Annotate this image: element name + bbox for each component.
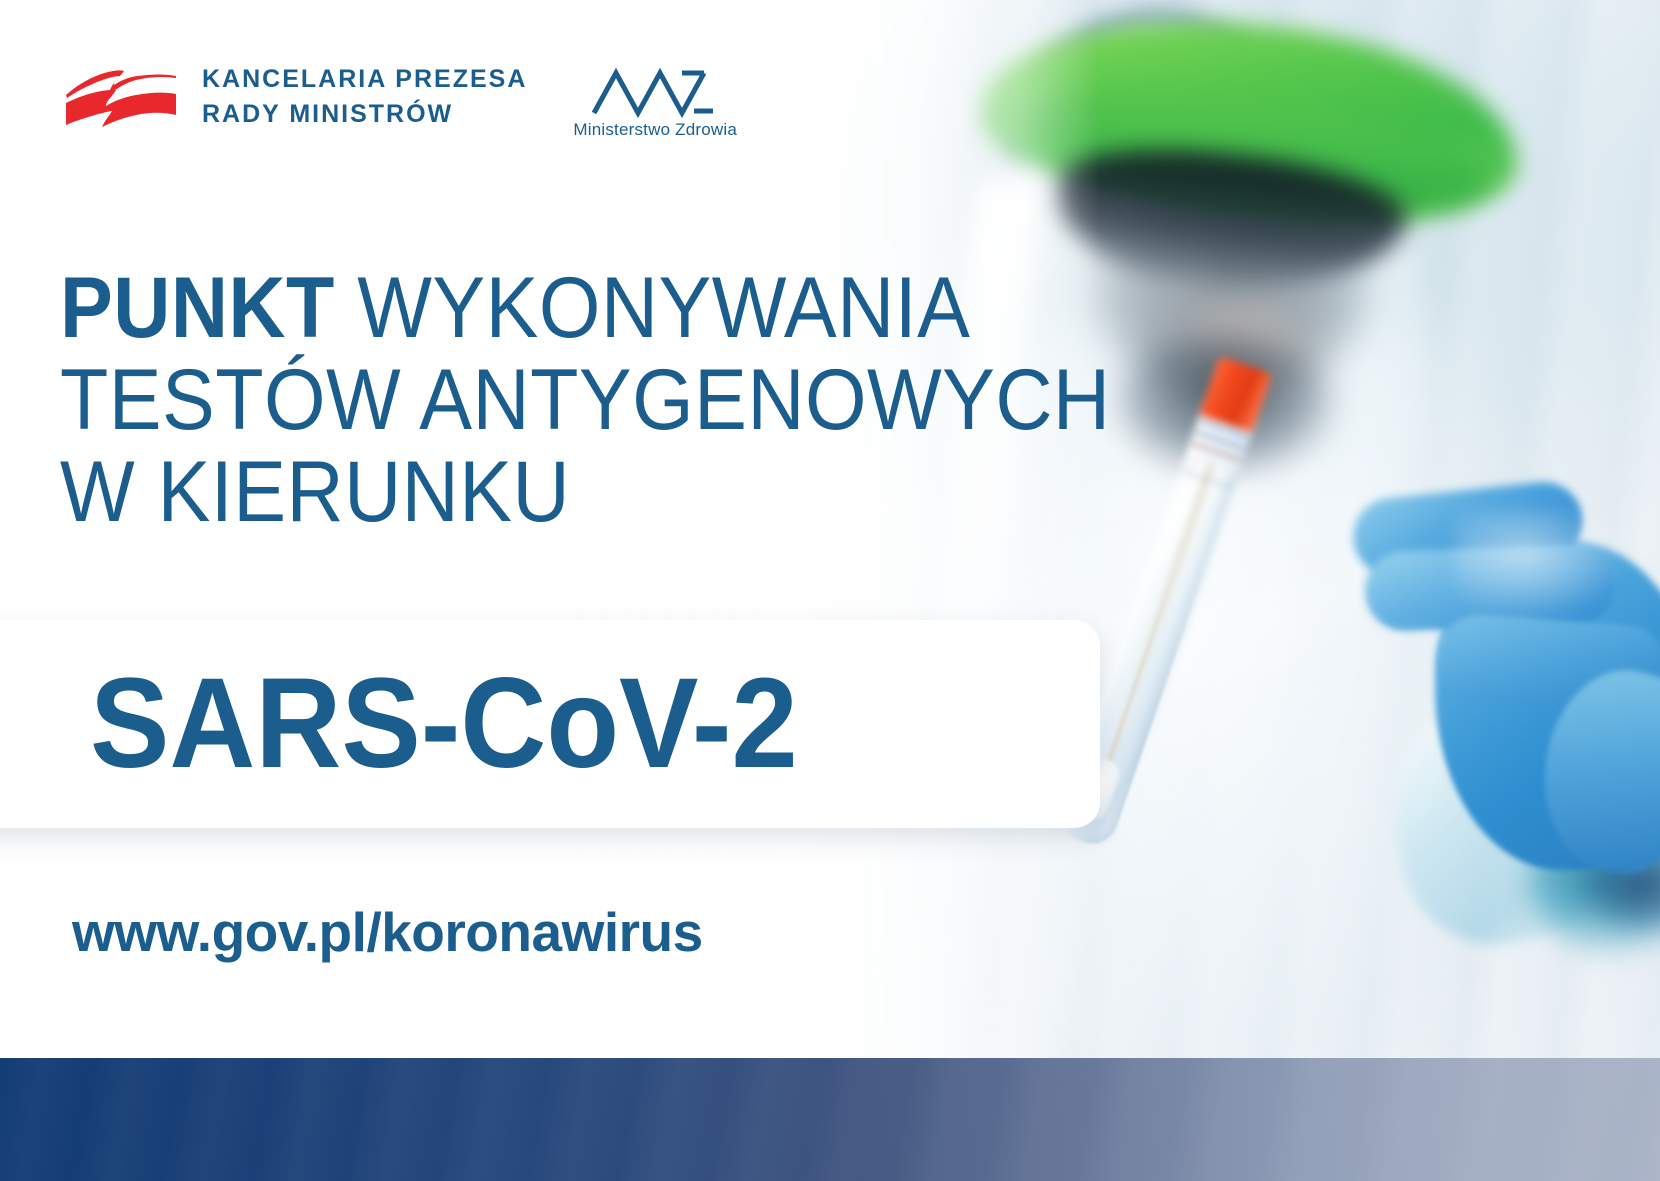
- gloved-hand: [1395, 470, 1660, 890]
- polish-flag-icon: [62, 65, 180, 129]
- virus-name-label: SARS-CoV-2: [90, 660, 798, 788]
- kprm-logo: KANCELARIA PREZESA RADY MINISTRÓW: [62, 62, 527, 131]
- virus-name-card: SARS-CoV-2: [0, 620, 1100, 828]
- headline-line-1-rest: WYKONYWANIA: [335, 260, 971, 356]
- page-title: PUNKT WYKONYWANIA TESTÓW ANTYGENOWYCH W …: [60, 262, 1109, 538]
- ministry-logo-label: Ministerstwo Zdrowia: [573, 120, 737, 140]
- poster-root: KANCELARIA PREZESA RADY MINISTRÓW Minist…: [0, 0, 1660, 1181]
- headline-emphasis: PUNKT: [60, 260, 335, 356]
- ministry-logo: Ministerstwo Zdrowia: [573, 62, 737, 140]
- headline-line-3: W KIERUNKU: [60, 446, 1109, 538]
- headline-line-1: PUNKT WYKONYWANIA: [60, 262, 1109, 354]
- glove-highlight: [1455, 510, 1625, 620]
- mz-monogram-icon: [591, 66, 719, 118]
- footer-bar: [0, 1058, 1660, 1181]
- logo-row: KANCELARIA PREZESA RADY MINISTRÓW Minist…: [62, 62, 737, 140]
- headline-line-2: TESTÓW ANTYGENOWYCH: [60, 354, 1109, 446]
- website-url[interactable]: www.gov.pl/koronawirus: [72, 900, 703, 964]
- kprm-logo-label: KANCELARIA PREZESA RADY MINISTRÓW: [202, 62, 527, 131]
- footer-bar-sheen: [0, 1058, 1660, 1181]
